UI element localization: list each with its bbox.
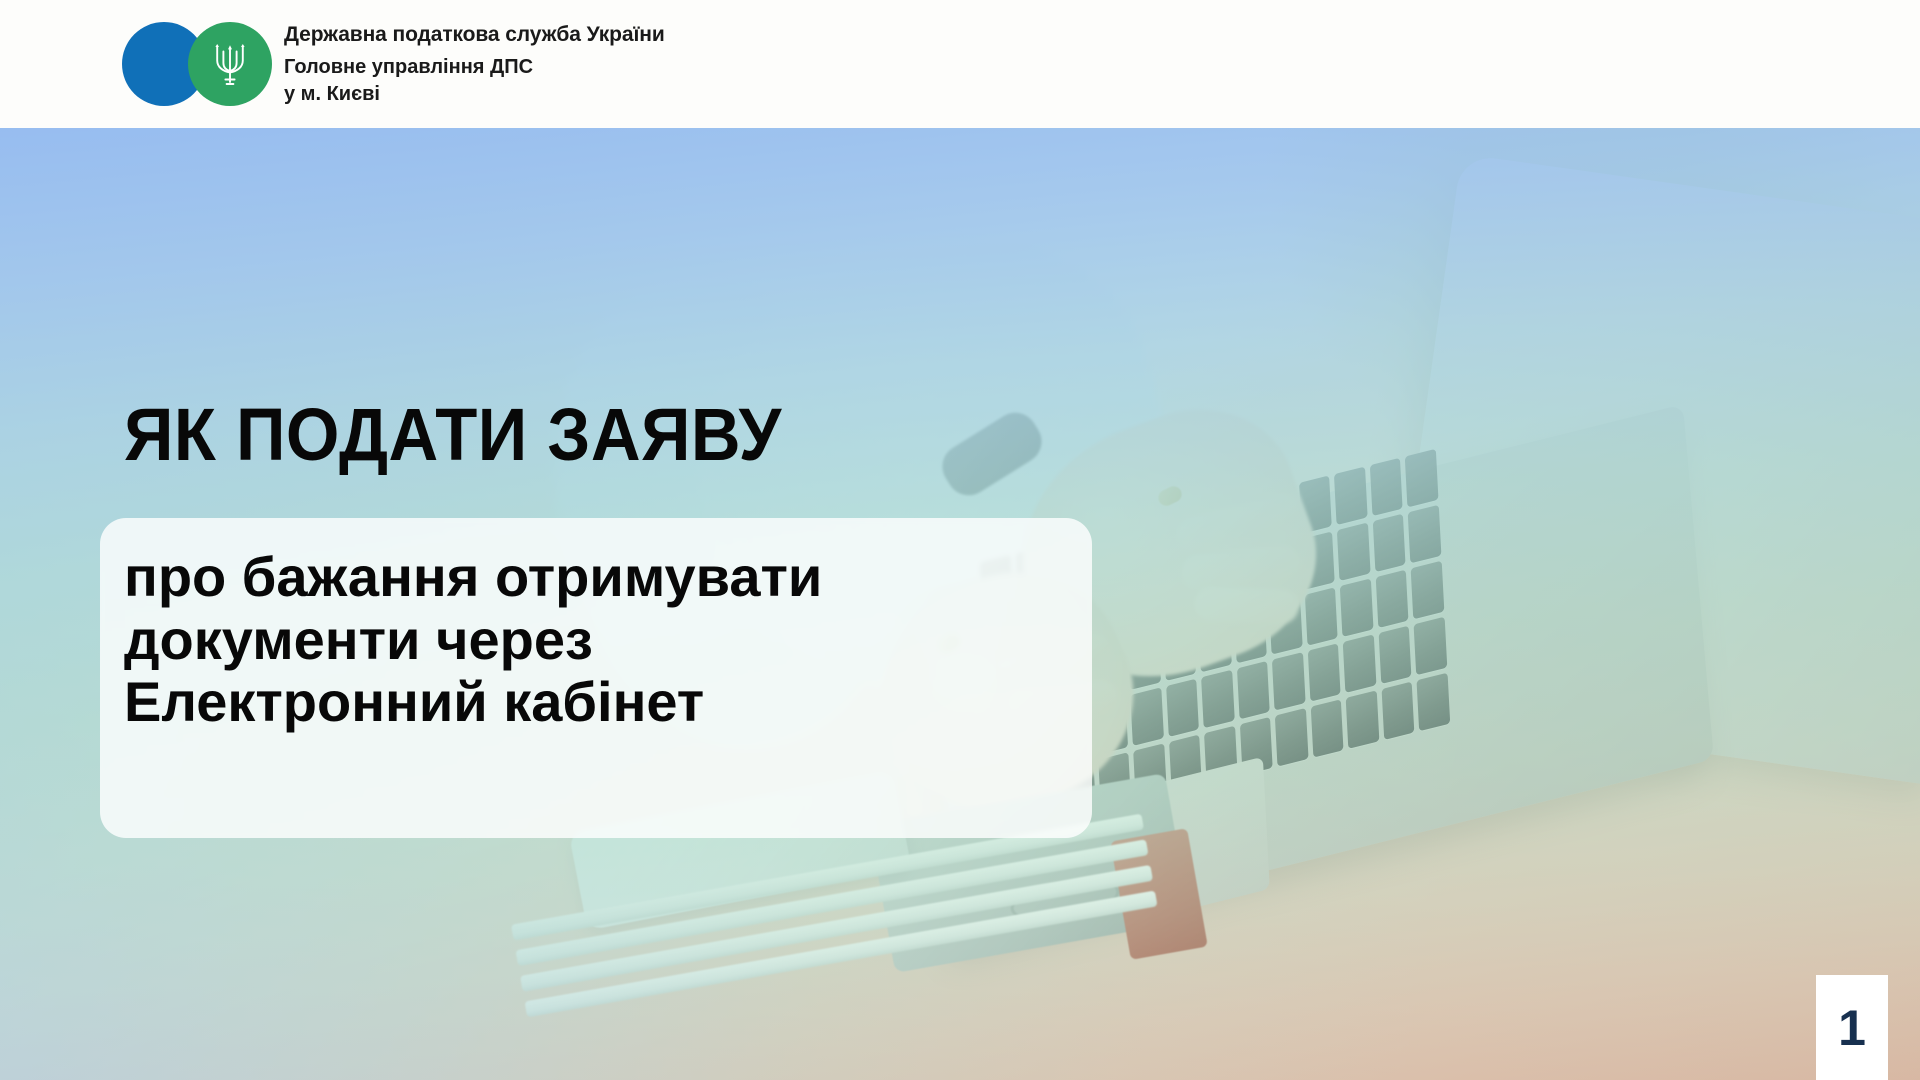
ukrainian-trident-icon: [213, 41, 247, 87]
agency-name-line-2: Головне управління ДПС: [284, 54, 665, 81]
subtitle-line-1: про бажання отримувати: [124, 546, 1204, 609]
logo-circle-green-icon: [188, 22, 272, 106]
agency-logo: [122, 22, 272, 106]
page-number-badge: 1: [1816, 975, 1888, 1080]
slide-root: ЯК ПОДАТИ ЗАЯВУ про бажання отримувати д…: [0, 0, 1920, 1080]
subtitle-line-3: Електронний кабінет: [124, 671, 1204, 734]
header-bar: Державна податкова служба України Головн…: [0, 0, 1920, 128]
page-number-value: 1: [1838, 1003, 1866, 1053]
agency-name-block: Державна податкова служба України Головн…: [284, 21, 665, 108]
header-content: Державна податкова служба України Головн…: [122, 21, 665, 108]
slide-subtitle: про бажання отримувати документи через Е…: [124, 546, 1204, 734]
subtitle-line-2: документи через: [124, 609, 1204, 672]
agency-name-line-3: у м. Києві: [284, 81, 665, 108]
slide-headline: ЯК ПОДАТИ ЗАЯВУ: [124, 398, 782, 472]
agency-name-line-1: Державна податкова служба України: [284, 21, 665, 49]
